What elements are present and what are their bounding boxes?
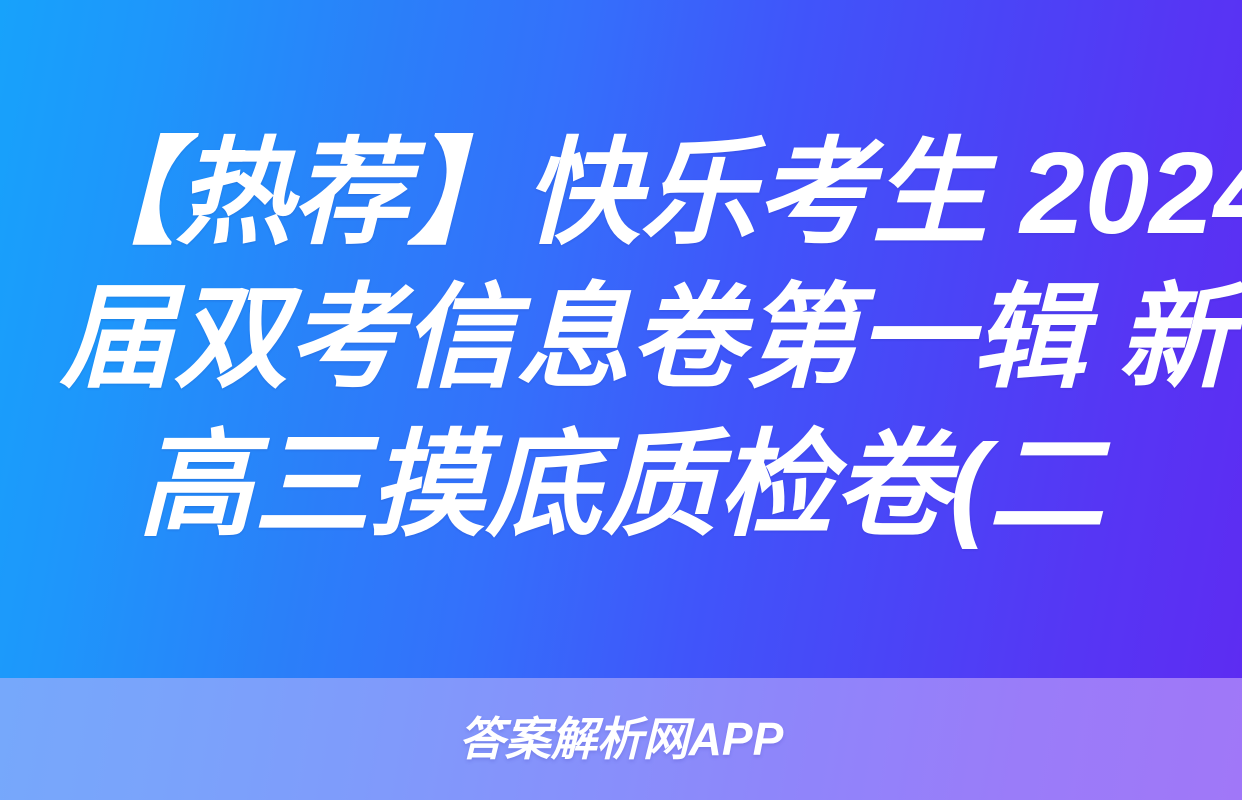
title-line-2: 届双考信息卷第一辑 新: [60, 266, 1182, 412]
title-line-3: 高三摸底质检卷(二: [60, 412, 1182, 558]
poster-card: 【热荐】快乐考生 2024 届双考信息卷第一辑 新 高三摸底质检卷(二 答案解析…: [0, 0, 1242, 800]
watermark-app-name: 答案解析网APP: [459, 716, 784, 762]
title-area: 【热荐】快乐考生 2024 届双考信息卷第一辑 新 高三摸底质检卷(二: [0, 0, 1242, 678]
title-line-1: 【热荐】快乐考生 2024: [60, 120, 1182, 266]
watermark-bar: 答案解析网APP: [0, 678, 1242, 800]
